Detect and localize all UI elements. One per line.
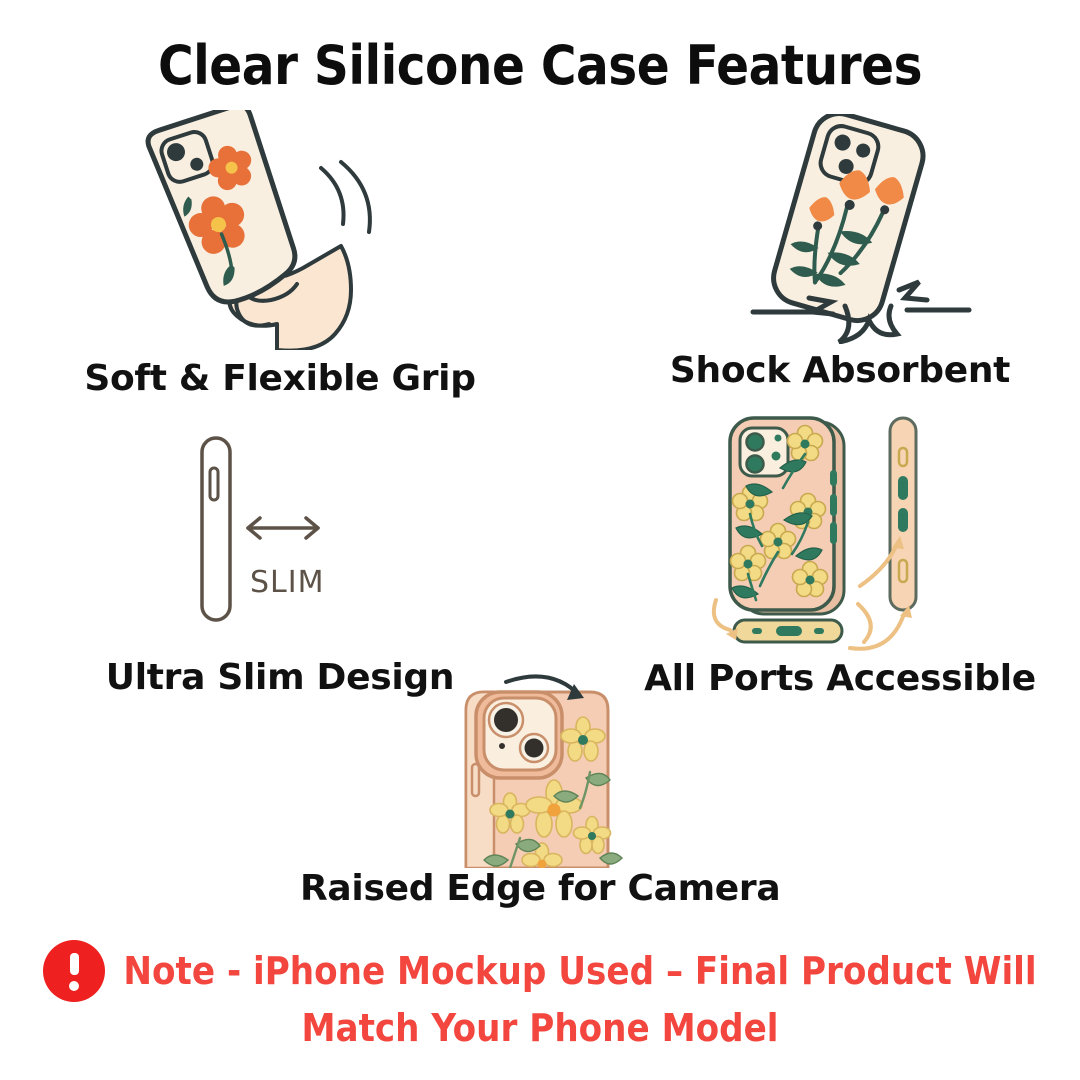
feature-all-ports-accessible: All Ports Accessible	[600, 408, 1080, 708]
feature-caption: Shock Absorbent	[600, 350, 1080, 391]
feature-ultra-slim-design: SLIM Ultra Slim Design	[40, 420, 520, 710]
feature-shock-absorbent: Shock Absorbent	[600, 110, 1080, 410]
phone-side-and-bottom-ports-icon	[710, 408, 970, 662]
phone-side-profile-icon: SLIM	[160, 420, 400, 644]
infographic-page: Clear Silicone Case Features	[0, 0, 1080, 1080]
camera-bump-closeup-icon	[450, 668, 630, 872]
phone-impact-burst-icon	[695, 114, 995, 348]
feature-caption: Soft & Flexible Grip	[40, 358, 520, 399]
exclamation-circle-icon	[43, 940, 105, 1002]
feature-soft-flexible-grip: Soft & Flexible Grip	[40, 110, 520, 410]
note-line-2: Match Your Phone Model	[0, 1006, 1080, 1050]
note-line-1: Note - iPhone Mockup Used – Final Produc…	[123, 947, 1036, 996]
feature-caption: Raised Edge for Camera	[300, 868, 780, 909]
disclaimer-note: Note - iPhone Mockup Used – Final Produc…	[0, 942, 1080, 1050]
page-title: Clear Silicone Case Features	[0, 34, 1080, 97]
feature-raised-edge-camera: Raised Edge for Camera	[300, 668, 780, 928]
slim-measure-label: SLIM	[250, 565, 325, 600]
hand-flexing-phone-case-icon	[135, 110, 425, 354]
